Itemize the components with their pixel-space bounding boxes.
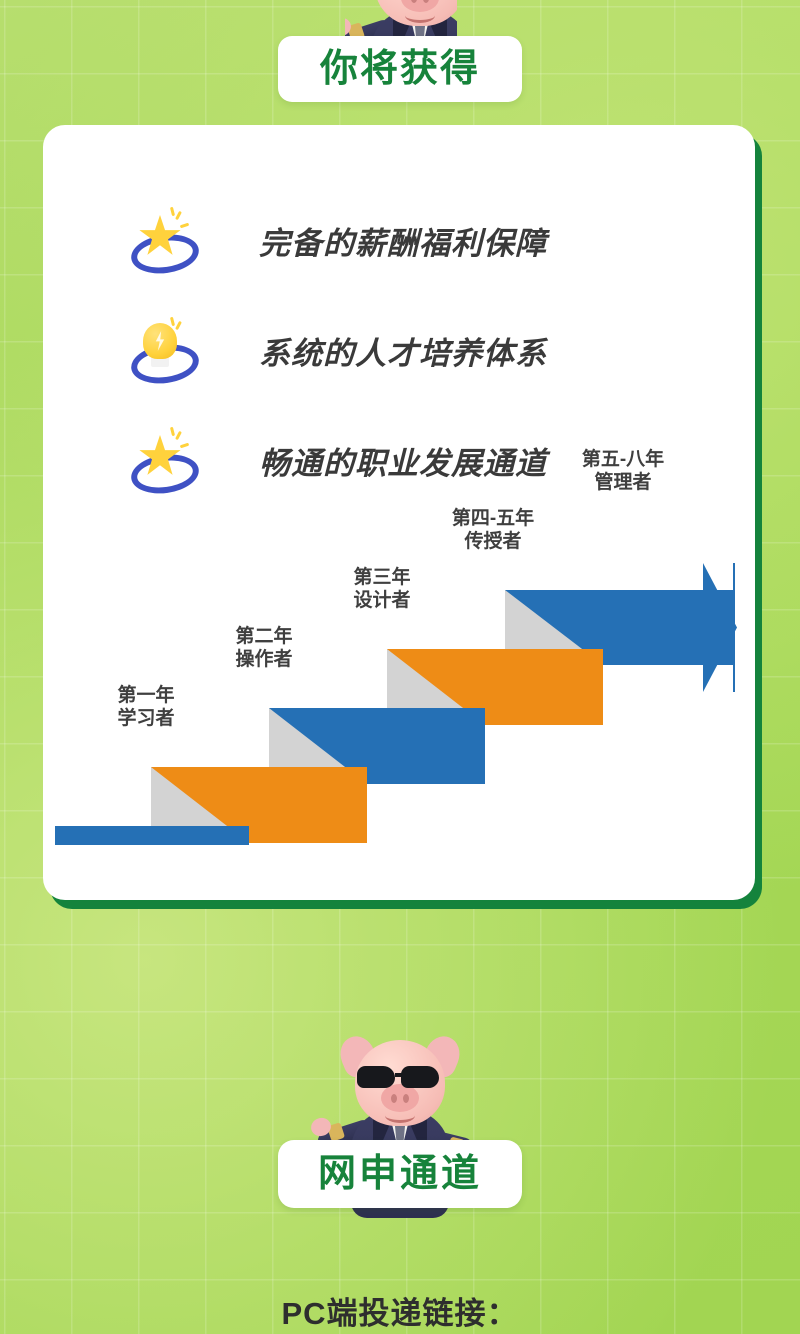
- benefit-label-2: 系统的人才培养体系: [259, 328, 547, 373]
- chart-label-4: 第四-五年 传授者: [413, 507, 573, 553]
- chart-label-2: 第二年 操作者: [199, 625, 329, 671]
- apply-channel-button[interactable]: 网申通道: [278, 1140, 522, 1208]
- benefit-label-3: 畅通的职业发展通道: [259, 438, 547, 483]
- chart-label-5: 第五-八年 管理者: [543, 448, 703, 494]
- top-pig-mascot-icon: [345, 0, 457, 40]
- career-path-chart: 第一年 学习者 第二年 操作者 第三年 设计者 第四-五年 传授者 第五-八年 …: [43, 515, 755, 845]
- section-title-badge: 你将获得: [278, 36, 522, 102]
- career-path-svg: [43, 515, 755, 845]
- chart-label-1: 第一年 学习者: [81, 684, 211, 730]
- list-item: 完备的薪酬福利保障: [43, 185, 755, 295]
- benefit-label-1: 完备的薪酬福利保障: [259, 218, 547, 263]
- benefits-card: 完备的薪酬福利保障 系统的人才培养体系 畅通的职业发展通道: [43, 125, 755, 900]
- chart-label-3: 第三年 设计者: [317, 566, 447, 612]
- chart-arrow-head: [703, 563, 737, 692]
- star-icon: [129, 429, 191, 491]
- list-item: 系统的人才培养体系: [43, 295, 755, 405]
- chart-bar-1: [55, 826, 249, 845]
- pig-mascot-icon: [345, 0, 457, 40]
- pc-link-label: PC端投递链接：: [0, 1288, 800, 1333]
- star-icon: [129, 209, 191, 271]
- page-title: 你将获得: [320, 50, 480, 88]
- lightbulb-icon: [129, 319, 191, 381]
- apply-channel-label: 网申通道: [318, 1155, 482, 1193]
